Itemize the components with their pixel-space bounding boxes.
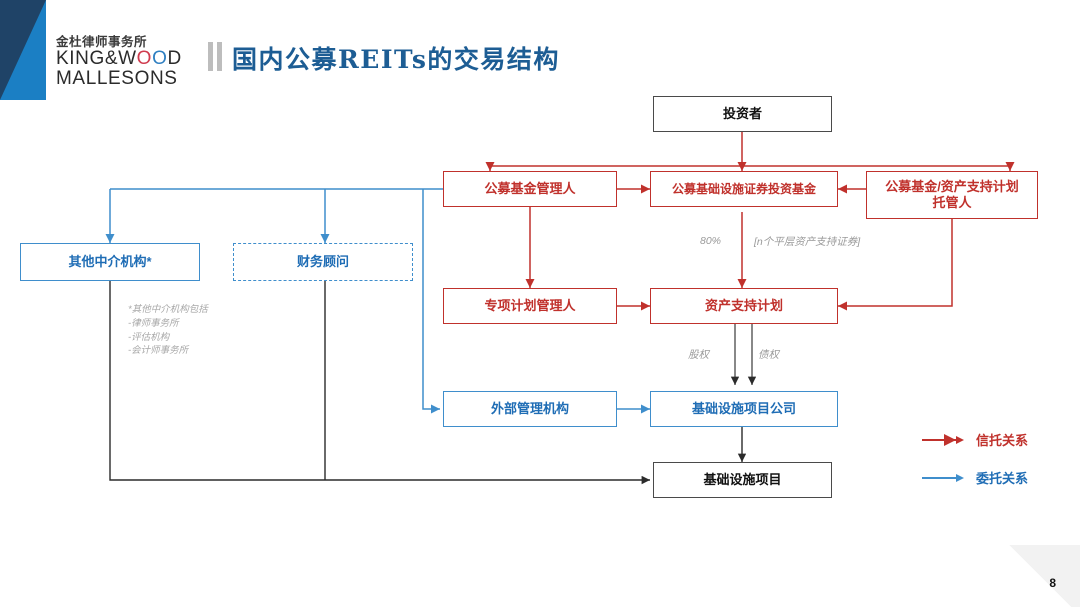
legend-entrust-label: 委托关系 — [976, 468, 1028, 487]
corner-fold-decoration — [1006, 545, 1080, 607]
node-investor[interactable]: 投资者 — [653, 96, 832, 132]
edge-label-equity: 股权 — [688, 347, 709, 362]
node-other-intermediaries[interactable]: 其他中介机构* — [20, 243, 200, 281]
legend-trust: 信托关系 — [922, 430, 1028, 449]
node-abs-plan[interactable]: 资产支持计划 — [650, 288, 838, 324]
edge-label-abs-tranches: [n个平层资产支持证券] — [754, 234, 860, 249]
node-fund-manager[interactable]: 公募基金管理人 — [443, 171, 617, 207]
node-project-company[interactable]: 基础设施项目公司 — [650, 391, 838, 427]
legend-arrow-red-icon — [922, 434, 966, 446]
node-financial-advisor[interactable]: 财务顾问 — [233, 243, 413, 281]
legend-arrow-blue-icon — [922, 472, 966, 484]
page-number: 8 — [1049, 576, 1056, 590]
node-external-manager[interactable]: 外部管理机构 — [443, 391, 617, 427]
node-custodian[interactable]: 公募基金/资产支持计划 托管人 — [866, 171, 1038, 219]
node-infrastructure-project[interactable]: 基础设施项目 — [653, 462, 832, 498]
footnote-intermediaries: *其他中介机构包括 -律师事务所 -评估机构 -会计师事务所 — [128, 303, 208, 358]
legend-entrust: 委托关系 — [922, 468, 1028, 487]
diagram-canvas: 投资者 公募基金管理人 公募基础设施证券投资基金 公募基金/资产支持计划 托管人… — [0, 0, 1080, 607]
legend-trust-label: 信托关系 — [976, 430, 1028, 449]
node-abs-manager[interactable]: 专项计划管理人 — [443, 288, 617, 324]
edge-label-80-percent: 80% — [700, 235, 721, 247]
node-public-reit-fund[interactable]: 公募基础设施证券投资基金 — [650, 171, 838, 207]
edge-label-debt: 债权 — [758, 347, 779, 362]
